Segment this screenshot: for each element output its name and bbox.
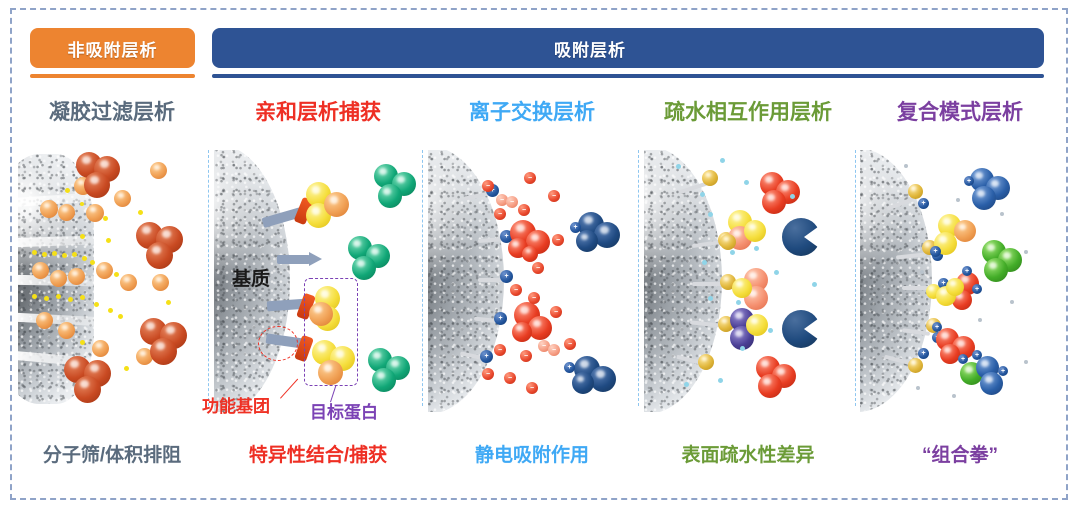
salt-dot xyxy=(736,300,741,305)
small-molecule-dot xyxy=(166,300,171,305)
panel-ion-exchange: + + + + + − − − − − − − − − − − xyxy=(428,150,636,412)
anion-pale: − xyxy=(548,344,560,356)
salt-dot xyxy=(790,194,795,199)
small-molecule-dot xyxy=(82,256,87,261)
background-dot xyxy=(920,270,924,274)
banner-non-adsorptive: 非吸附层析 xyxy=(30,28,195,68)
anion: − xyxy=(548,190,560,202)
ligand-stalk xyxy=(277,255,310,264)
anion: − xyxy=(526,382,538,394)
salt-dot xyxy=(702,260,707,265)
anion: − xyxy=(494,344,506,356)
salt-dot xyxy=(774,270,779,275)
panel-mixed-mode: + + + + + + + + xyxy=(860,150,1064,412)
column-title-affinity: 亲和层析捕获 xyxy=(212,95,424,131)
salt-dot xyxy=(720,158,725,163)
mixed-ligand-charged: + xyxy=(918,348,929,359)
medium-molecule xyxy=(92,340,109,357)
small-molecule-dot xyxy=(56,294,61,299)
hydrophobic-ligand xyxy=(698,354,714,370)
anion: − xyxy=(552,234,564,246)
small-molecule-dot xyxy=(44,296,49,301)
medium-molecule xyxy=(150,162,167,179)
anion: − xyxy=(494,208,506,220)
small-molecule-dot xyxy=(62,253,67,258)
small-molecule-dot xyxy=(32,250,37,255)
anion: − xyxy=(504,372,516,384)
ligand-arrowhead xyxy=(309,252,322,266)
small-molecule-dot xyxy=(65,188,70,193)
mechanism-affinity: 特异性结合/捕获 xyxy=(212,440,424,472)
anion: − xyxy=(482,180,494,192)
functional-group-highlight xyxy=(258,326,298,361)
background-dot xyxy=(1000,212,1004,216)
rule-non-adsorptive xyxy=(30,74,195,78)
cation-ligand: + xyxy=(480,350,493,363)
background-dot xyxy=(916,386,920,390)
salt-dot xyxy=(730,250,735,255)
salt-dot xyxy=(700,192,705,197)
anion: − xyxy=(482,368,494,380)
anion: − xyxy=(532,262,544,274)
salt-dot xyxy=(768,328,773,333)
salt-dot xyxy=(676,164,681,169)
target-protein-highlight xyxy=(304,278,358,386)
anion-pale: − xyxy=(506,196,518,208)
small-molecule-dot xyxy=(108,308,113,313)
column-title-gel-filtration: 凝胶过滤层析 xyxy=(14,95,210,131)
cation-ligand: + xyxy=(494,312,507,325)
medium-molecule xyxy=(58,322,75,339)
salt-dot xyxy=(754,246,759,251)
divider-2 xyxy=(422,150,423,406)
medium-molecule xyxy=(40,200,58,218)
anion: − xyxy=(520,350,532,362)
divider-1 xyxy=(208,150,209,406)
mechanism-hydrophobic-interaction: 表面疏水性差异 xyxy=(640,440,856,472)
mixed-ligand-hydrophobic xyxy=(908,184,923,199)
small-molecule-dot xyxy=(68,297,73,302)
small-molecule-dot xyxy=(118,314,123,319)
background-dot xyxy=(1024,360,1028,364)
small-molecule-dot xyxy=(106,238,111,243)
annotation-functional-group: 功能基团 xyxy=(202,392,270,417)
panel-hydrophobic-interaction xyxy=(644,150,854,412)
medium-molecule xyxy=(96,262,113,279)
medium-molecule xyxy=(68,268,85,285)
background-dot xyxy=(904,164,908,168)
banner-adsorptive: 吸附层析 xyxy=(212,28,1044,68)
banner-adsorptive-label: 吸附层析 xyxy=(554,36,626,61)
mechanism-gel-filtration: 分子筛/体积排阻 xyxy=(14,440,210,472)
anion: − xyxy=(564,338,576,350)
medium-molecule xyxy=(120,274,137,291)
small-molecule-dot xyxy=(80,340,85,345)
background-dot xyxy=(952,394,956,398)
small-molecule-dot xyxy=(114,272,119,277)
medium-molecule xyxy=(86,204,104,222)
hydrophobic-pocket-protein xyxy=(782,310,820,348)
column-title-mixed-mode: 复合模式层析 xyxy=(858,95,1062,131)
small-molecule-dot xyxy=(52,251,57,256)
medium-molecule xyxy=(32,262,49,279)
small-molecule-dot xyxy=(72,252,77,257)
cation-ligand: + xyxy=(500,270,513,283)
functional-group-leader xyxy=(280,379,298,399)
chromatography-comparison-figure: 非吸附层析 吸附层析 凝胶过滤层析 亲和层析捕获 离子交换层析 疏水相互作用层析… xyxy=(0,0,1080,509)
medium-molecule xyxy=(50,270,67,287)
banner-non-adsorptive-label: 非吸附层析 xyxy=(68,36,158,61)
background-dot xyxy=(956,198,960,202)
panel-gel-filtration xyxy=(18,150,206,412)
rule-adsorptive xyxy=(212,74,1044,78)
mixed-ligand-charged: + xyxy=(918,198,929,209)
anion: − xyxy=(528,292,540,304)
small-molecule-dot xyxy=(80,295,85,300)
salt-dot xyxy=(812,282,817,287)
small-molecule-dot xyxy=(138,210,143,215)
salt-dot xyxy=(744,180,749,185)
small-molecule-dot xyxy=(32,294,37,299)
small-molecule-dot xyxy=(90,260,95,265)
divider-4 xyxy=(855,150,856,406)
salt-dot xyxy=(708,296,713,301)
salt-dot xyxy=(718,378,723,383)
anion: − xyxy=(524,172,536,184)
column-title-ion-exchange: 离子交换层析 xyxy=(426,95,638,131)
small-molecule-dot xyxy=(42,252,47,257)
hydrophobic-pocket-protein xyxy=(782,218,820,256)
anion: − xyxy=(550,306,562,318)
background-dot xyxy=(978,318,982,322)
medium-molecule xyxy=(152,274,169,291)
salt-dot xyxy=(740,346,745,351)
hydrophobic-ligand xyxy=(702,170,718,186)
mechanism-ion-exchange: 静电吸附作用 xyxy=(426,440,638,472)
salt-dot xyxy=(684,382,689,387)
background-dot xyxy=(1010,300,1014,304)
anion: − xyxy=(510,284,522,296)
small-molecule-dot xyxy=(80,202,84,206)
column-title-hydrophobic-interaction: 疏水相互作用层析 xyxy=(640,95,856,131)
divider-3 xyxy=(638,150,639,406)
annotation-target-protein: 目标蛋白 xyxy=(310,398,378,423)
small-molecule-dot xyxy=(94,302,99,307)
small-molecule-dot xyxy=(80,234,85,239)
medium-molecule xyxy=(114,190,131,207)
annotation-matrix: 基质 xyxy=(232,264,270,291)
small-molecule-dot xyxy=(103,216,108,221)
anion: − xyxy=(518,204,530,216)
medium-molecule xyxy=(36,312,53,329)
mechanism-mixed-mode: “组合拳” xyxy=(858,440,1062,472)
background-dot xyxy=(1024,250,1028,254)
mixed-ligand-hydrophobic xyxy=(908,358,923,373)
medium-molecule xyxy=(58,204,75,221)
small-molecule-dot xyxy=(124,366,129,371)
salt-dot xyxy=(708,212,713,217)
